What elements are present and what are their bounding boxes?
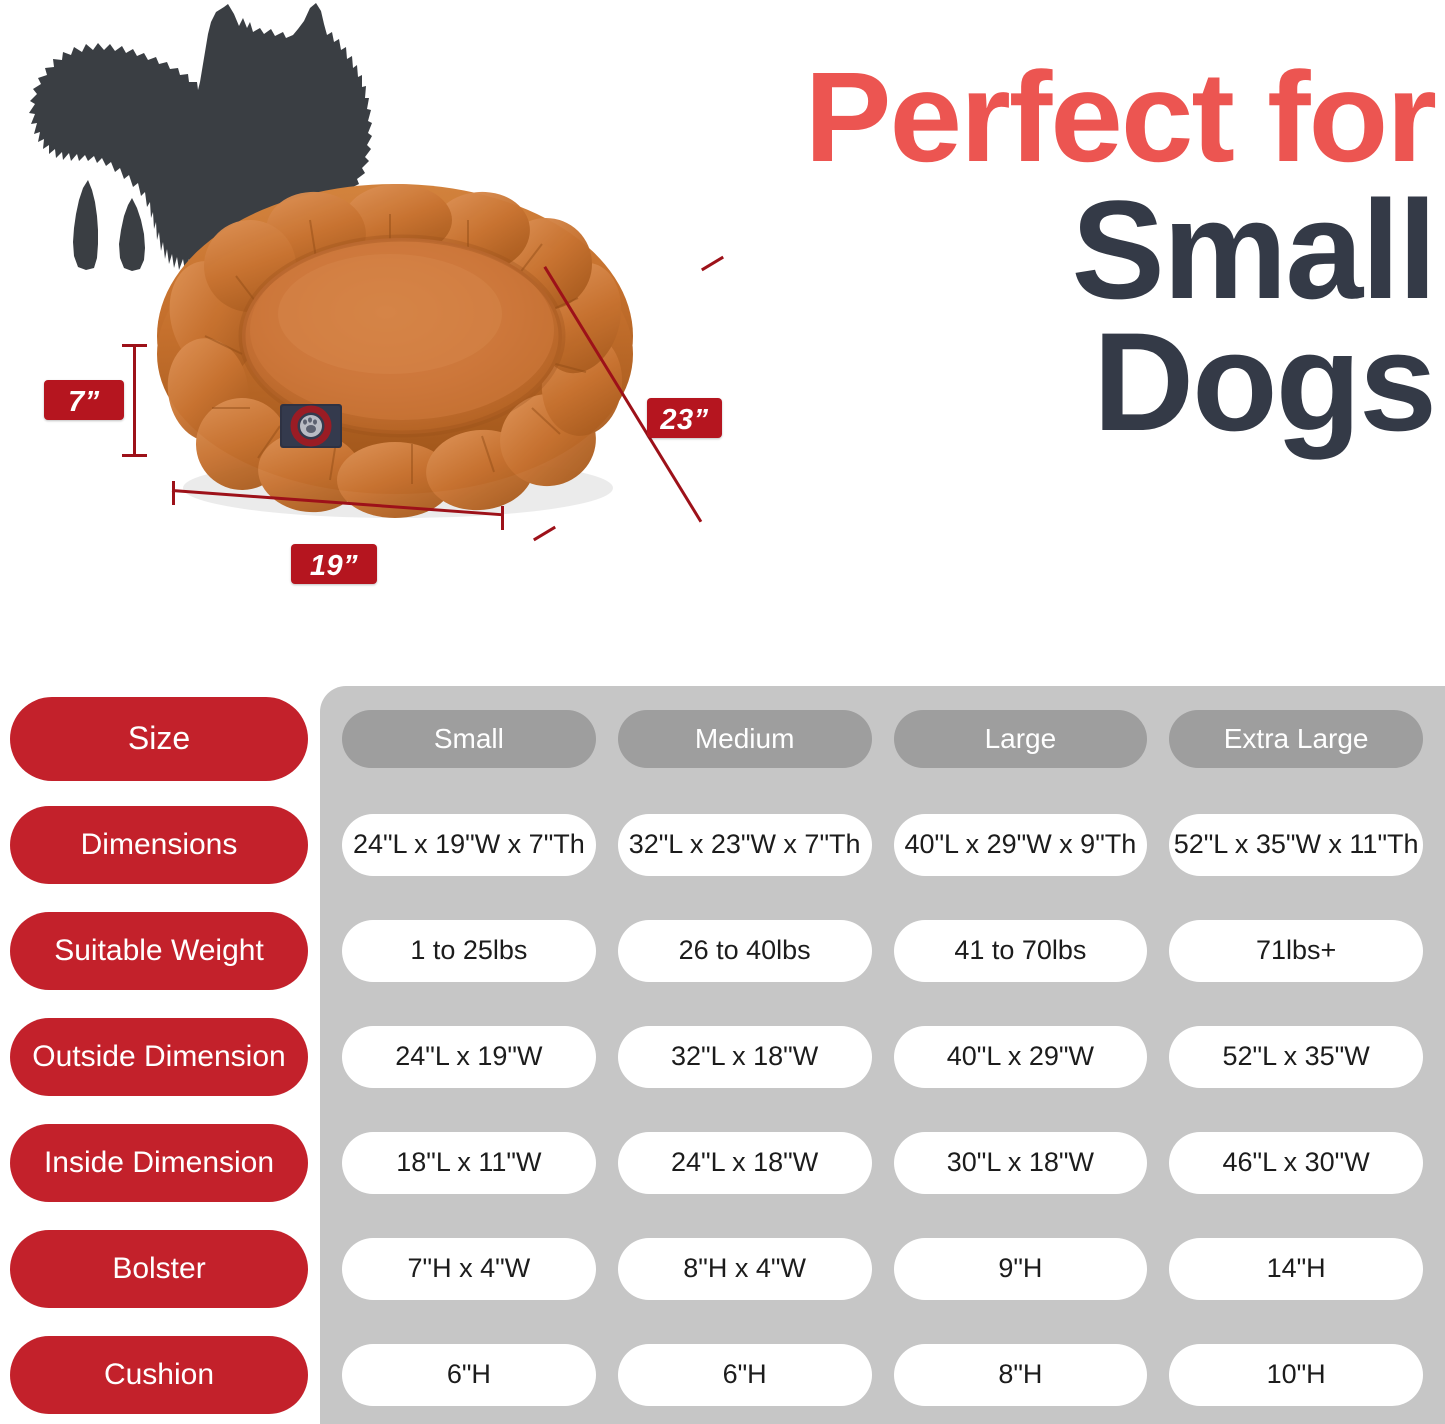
width-dimension-badge: 19” (291, 544, 377, 584)
hero-headline: Perfect for Small Dogs (735, 58, 1435, 447)
row-label-size: Size (10, 697, 308, 781)
cell-value: 7"H x 4"W (342, 1238, 596, 1300)
diagonal-dimension-cap-bottom (533, 526, 556, 541)
table-header-row: Size Small Medium Large Extra Large (0, 686, 1445, 791)
row-cells: 6"H 6"H 8"H 10"H (320, 1322, 1445, 1424)
cell-value: 6"H (342, 1344, 596, 1406)
cell-value: 52"L x 35"W (1169, 1026, 1423, 1088)
table-row: Outside Dimension 24"L x 19"W 32"L x 18"… (0, 1004, 1445, 1109)
column-header-medium: Medium (618, 710, 872, 768)
cell-value: 30"L x 18"W (894, 1132, 1148, 1194)
diagonal-dimension-cap-top (701, 256, 724, 271)
row-label-suitable-weight: Suitable Weight (10, 912, 308, 990)
row-label-cushion: Cushion (10, 1336, 308, 1414)
cell-value: 14"H (1169, 1238, 1423, 1300)
cell-value: 46"L x 30"W (1169, 1132, 1423, 1194)
cell-value: 24"L x 19"W x 7"Th (342, 814, 596, 876)
header-cells: Small Medium Large Extra Large (320, 686, 1445, 791)
table-row: Dimensions 24"L x 19"W x 7"Th 32"L x 23"… (0, 792, 1445, 897)
row-label-inside-dimension: Inside Dimension (10, 1124, 308, 1202)
cell-value: 32"L x 18"W (618, 1026, 872, 1088)
cell-value: 71lbs+ (1169, 920, 1423, 982)
width-dimension-cap-left (172, 481, 175, 505)
table-row: Cushion 6"H 6"H 8"H 10"H (0, 1322, 1445, 1424)
cell-value: 41 to 70lbs (894, 920, 1148, 982)
height-dimension-cap-top (122, 344, 147, 347)
row-label-dimensions: Dimensions (10, 806, 308, 884)
width-dimension-cap-right (501, 506, 504, 530)
cell-value: 26 to 40lbs (618, 920, 872, 982)
hero-section: 7” 19” 23” Perfect for Small Dogs (0, 0, 1445, 686)
cell-value: 9"H (894, 1238, 1148, 1300)
column-header-large: Large (894, 710, 1148, 768)
cell-value: 40"L x 29"W x 9"Th (894, 814, 1148, 876)
cell-value: 32"L x 23"W x 7"Th (618, 814, 872, 876)
height-dimension-line (133, 344, 136, 457)
column-header-small: Small (342, 710, 596, 768)
row-cells: 24"L x 19"W 32"L x 18"W 40"L x 29"W 52"L… (320, 1004, 1445, 1109)
row-label-outside-dimension: Outside Dimension (10, 1018, 308, 1096)
cell-value: 18"L x 11"W (342, 1132, 596, 1194)
height-dimension-cap-bottom (122, 454, 147, 457)
row-cells: 7"H x 4"W 8"H x 4"W 9"H 14"H (320, 1216, 1445, 1321)
table-row: Bolster 7"H x 4"W 8"H x 4"W 9"H 14"H (0, 1216, 1445, 1321)
headline-line-1: Perfect for (721, 58, 1435, 177)
dog-bed-product-image (150, 158, 640, 528)
cell-value: 10"H (1169, 1344, 1423, 1406)
cell-value: 40"L x 29"W (894, 1026, 1148, 1088)
cell-value: 52"L x 35"W x 11"Th (1169, 814, 1423, 876)
table-row: Suitable Weight 1 to 25lbs 26 to 40lbs 4… (0, 898, 1445, 1003)
cell-value: 24"L x 18"W (618, 1132, 872, 1194)
spec-table: Size Small Medium Large Extra Large Dime… (0, 686, 1445, 1424)
cell-value: 24"L x 19"W (342, 1026, 596, 1088)
diagonal-dimension-badge: 23” (647, 398, 722, 438)
height-dimension-badge: 7” (44, 380, 124, 420)
cell-value: 8"H x 4"W (618, 1238, 872, 1300)
row-cells: 1 to 25lbs 26 to 40lbs 41 to 70lbs 71lbs… (320, 898, 1445, 1003)
cell-value: 1 to 25lbs (342, 920, 596, 982)
headline-line-2: Small (735, 185, 1435, 315)
infographic-page: 7” 19” 23” Perfect for Small Dogs Size S… (0, 0, 1445, 1424)
headline-line-3: Dogs (735, 317, 1435, 447)
cell-value: 8"H (894, 1344, 1148, 1406)
column-header-extra-large: Extra Large (1169, 710, 1423, 768)
row-cells: 24"L x 19"W x 7"Th 32"L x 23"W x 7"Th 40… (320, 792, 1445, 897)
row-cells: 18"L x 11"W 24"L x 18"W 30"L x 18"W 46"L… (320, 1110, 1445, 1215)
row-label-bolster: Bolster (10, 1230, 308, 1308)
table-row: Inside Dimension 18"L x 11"W 24"L x 18"W… (0, 1110, 1445, 1215)
cell-value: 6"H (618, 1344, 872, 1406)
